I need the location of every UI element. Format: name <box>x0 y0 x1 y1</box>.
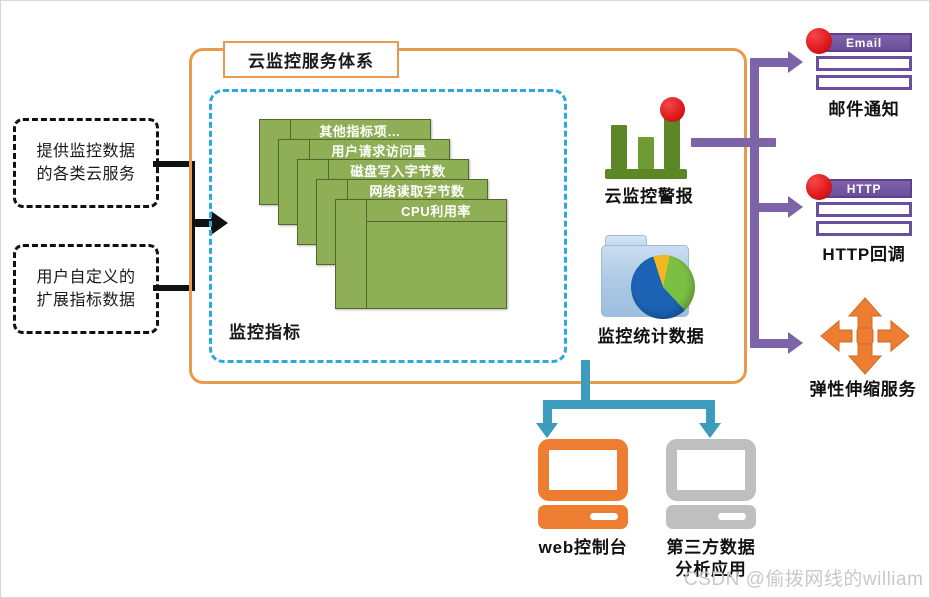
source-box-cloud-services: 提供监控数据 的各类云服务 <box>13 118 159 208</box>
source-box-custom-metrics-line2: 扩展指标数据 <box>36 289 135 312</box>
email-row-1 <box>816 56 912 71</box>
alert-bar-baseline <box>605 169 687 179</box>
http-alert-dot-icon <box>806 174 832 200</box>
metric-card[interactable]: CPU利用率 <box>335 199 507 309</box>
monitor-statistics-label: 监控统计数据 <box>584 326 718 348</box>
purple-branch-scaling-shaft <box>750 339 790 348</box>
web-console-label: web控制台 <box>513 537 653 559</box>
third-party-slot <box>718 513 746 520</box>
watermark: CSDN @偷拨网线的william <box>684 564 923 591</box>
alert-bar-1 <box>611 125 627 169</box>
purple-branch-email-arrowhead <box>788 51 803 73</box>
http-row-2 <box>816 221 912 236</box>
alert-bar-2 <box>638 137 654 169</box>
third-party-monitor <box>666 439 756 501</box>
purple-source-horizontal <box>691 138 776 147</box>
metrics-box-label: 监控指标 <box>229 318 301 343</box>
diagram-canvas: 提供监控数据 的各类云服务 用户自定义的 扩展指标数据 云监控服务体系 监控指标… <box>0 0 930 598</box>
four-way-arrow-icon[interactable] <box>819 296 911 376</box>
scaling-service-label: 弹性伸缩服务 <box>787 379 930 401</box>
teal-arrow-thirdparty <box>699 423 721 438</box>
purple-branch-http-arrowhead <box>788 196 803 218</box>
metric-card-sidebar <box>336 200 367 308</box>
metric-card-title: CPU利用率 <box>366 200 506 222</box>
purple-branch-scaling-arrowhead <box>788 332 803 354</box>
source-box-cloud-services-line2: 的各类云服务 <box>36 163 135 186</box>
http-callback-label: HTTP回调 <box>797 244 930 266</box>
four-way-arrow-svg <box>819 296 911 376</box>
bar-chart-alert-icon <box>605 97 691 183</box>
source-box-custom-metrics-line1: 用户自定义的 <box>36 266 135 289</box>
web-console-computer-icon[interactable] <box>538 439 628 524</box>
source-box-custom-metrics: 用户自定义的 扩展指标数据 <box>13 244 159 334</box>
frame-title-box: 云监控服务体系 <box>223 41 399 78</box>
teal-arrow-web-console <box>536 423 558 438</box>
teal-horizontal-split <box>543 400 715 409</box>
purple-branch-email-shaft <box>750 58 790 67</box>
cloud-monitor-alert-label: 云监控警报 <box>587 186 711 208</box>
web-console-slot <box>590 513 618 520</box>
alert-red-indicator-icon <box>660 97 685 122</box>
third-party-app-computer-icon[interactable] <box>666 439 756 524</box>
email-row-2 <box>816 75 912 90</box>
email-notification-icon[interactable]: Email <box>816 33 912 93</box>
http-callback-icon[interactable]: HTTP <box>816 179 912 239</box>
source-box-cloud-services-line1: 提供监控数据 <box>36 140 135 163</box>
folder-pie-chart-icon <box>601 235 699 319</box>
purple-branch-http-shaft <box>750 203 790 212</box>
http-row-1 <box>816 202 912 217</box>
web-console-monitor <box>538 439 628 501</box>
email-notification-label: 邮件通知 <box>801 99 927 121</box>
frame-title-text: 云监控服务体系 <box>248 47 374 72</box>
email-alert-dot-icon <box>806 28 832 54</box>
third-party-app-label-line1: 第三方数据 <box>641 537 781 559</box>
pie-chart-icon <box>631 255 695 319</box>
